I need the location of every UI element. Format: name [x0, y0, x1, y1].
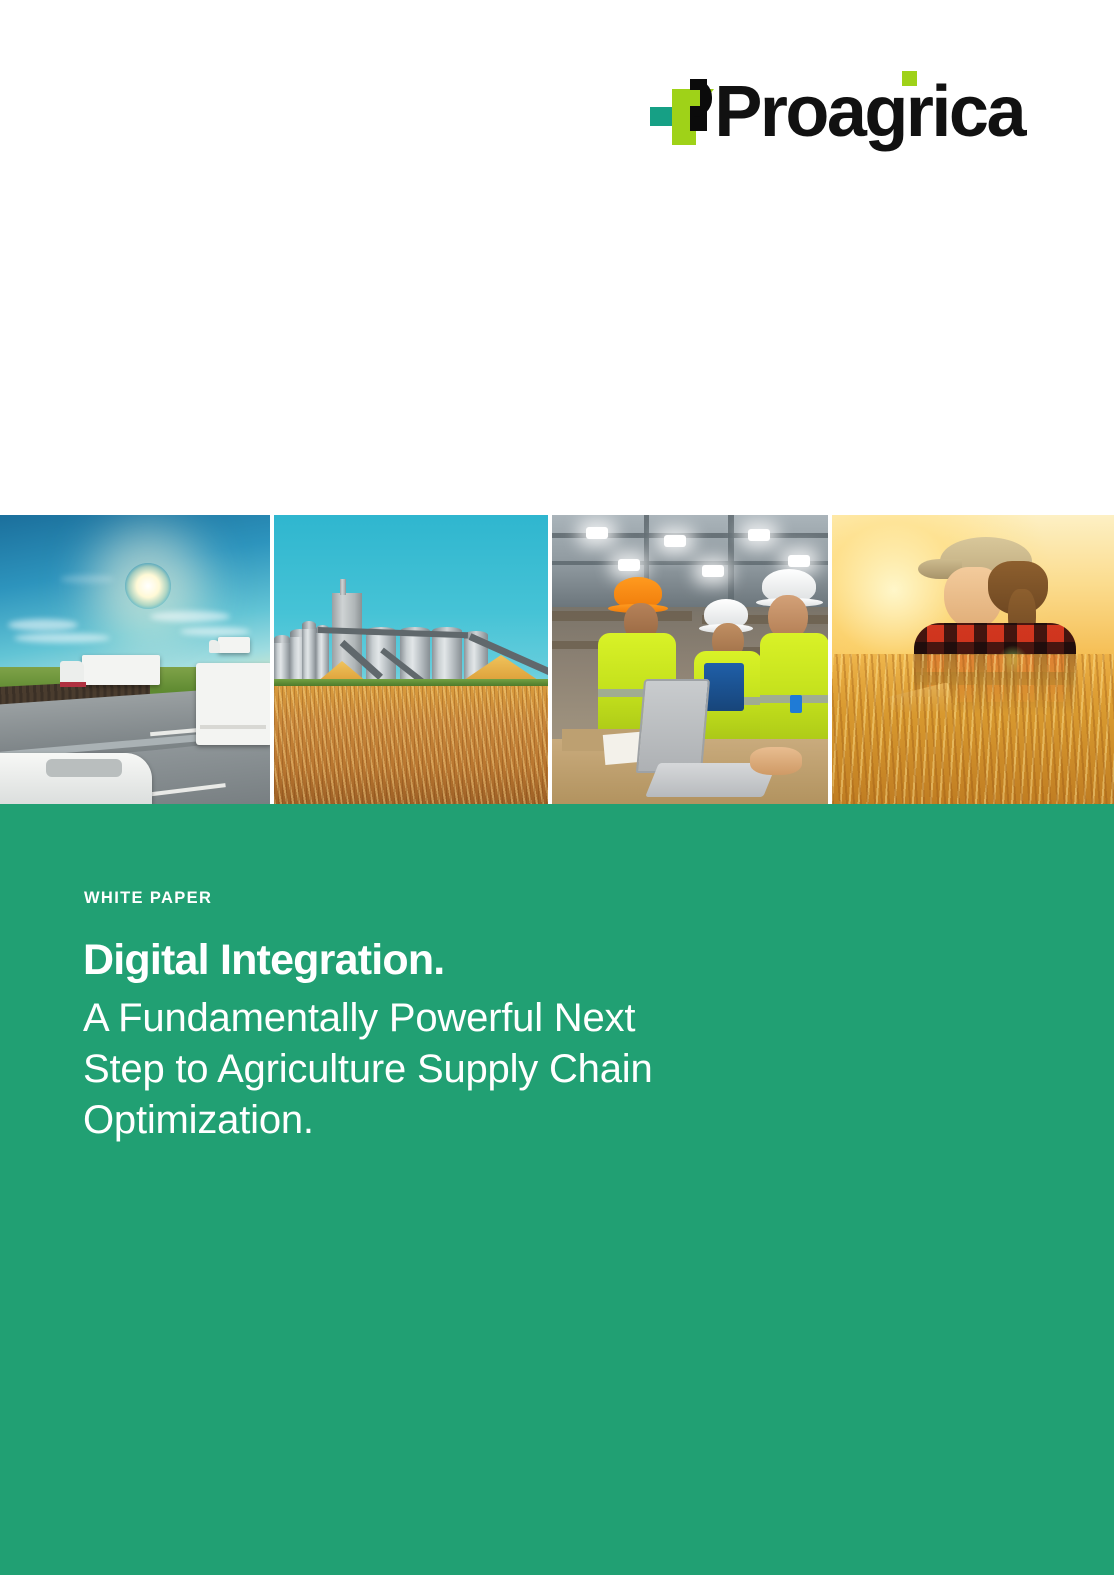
title-band — [0, 804, 1114, 1575]
panel-grain-elevator — [274, 515, 548, 804]
subtitle-line-1: A Fundamentally Powerful Next — [83, 993, 653, 1044]
sun-icon — [125, 563, 171, 609]
truck-main — [82, 655, 160, 685]
page-title: Digital Integration. — [83, 938, 444, 984]
laptop-screen — [636, 679, 710, 773]
wordmark-i-dot-icon — [902, 71, 917, 86]
page-subtitle: A Fundamentally Powerful Next Step to Ag… — [83, 993, 653, 1145]
truck-right — [196, 663, 270, 745]
clipboard-icon — [704, 663, 744, 711]
panel-trucks-highway — [0, 515, 270, 804]
panel-warehouse-team — [552, 515, 828, 804]
document-type-label: WHITE PAPER — [84, 889, 212, 908]
brand-logo[interactable]: Proagrica — [650, 72, 1024, 152]
panel-farmer-tablet — [832, 515, 1114, 804]
id-badge-icon — [790, 695, 802, 713]
proagrica-plus-p-mark-icon — [650, 79, 712, 145]
hero-image-strip — [0, 515, 1114, 804]
cover-page: Proagrica — [0, 0, 1114, 1575]
truck-far — [218, 637, 250, 653]
subtitle-line-2: Step to Agriculture Supply Chain — [83, 1044, 653, 1095]
wheat-foreground — [832, 654, 1114, 804]
truck-foreground — [0, 753, 152, 804]
brand-wordmark: Proagrica — [714, 76, 1024, 148]
subtitle-line-3: Optimization. — [83, 1095, 653, 1146]
brand-wordmark-text: Proagrica — [714, 72, 1024, 152]
wheat-field — [274, 686, 548, 804]
